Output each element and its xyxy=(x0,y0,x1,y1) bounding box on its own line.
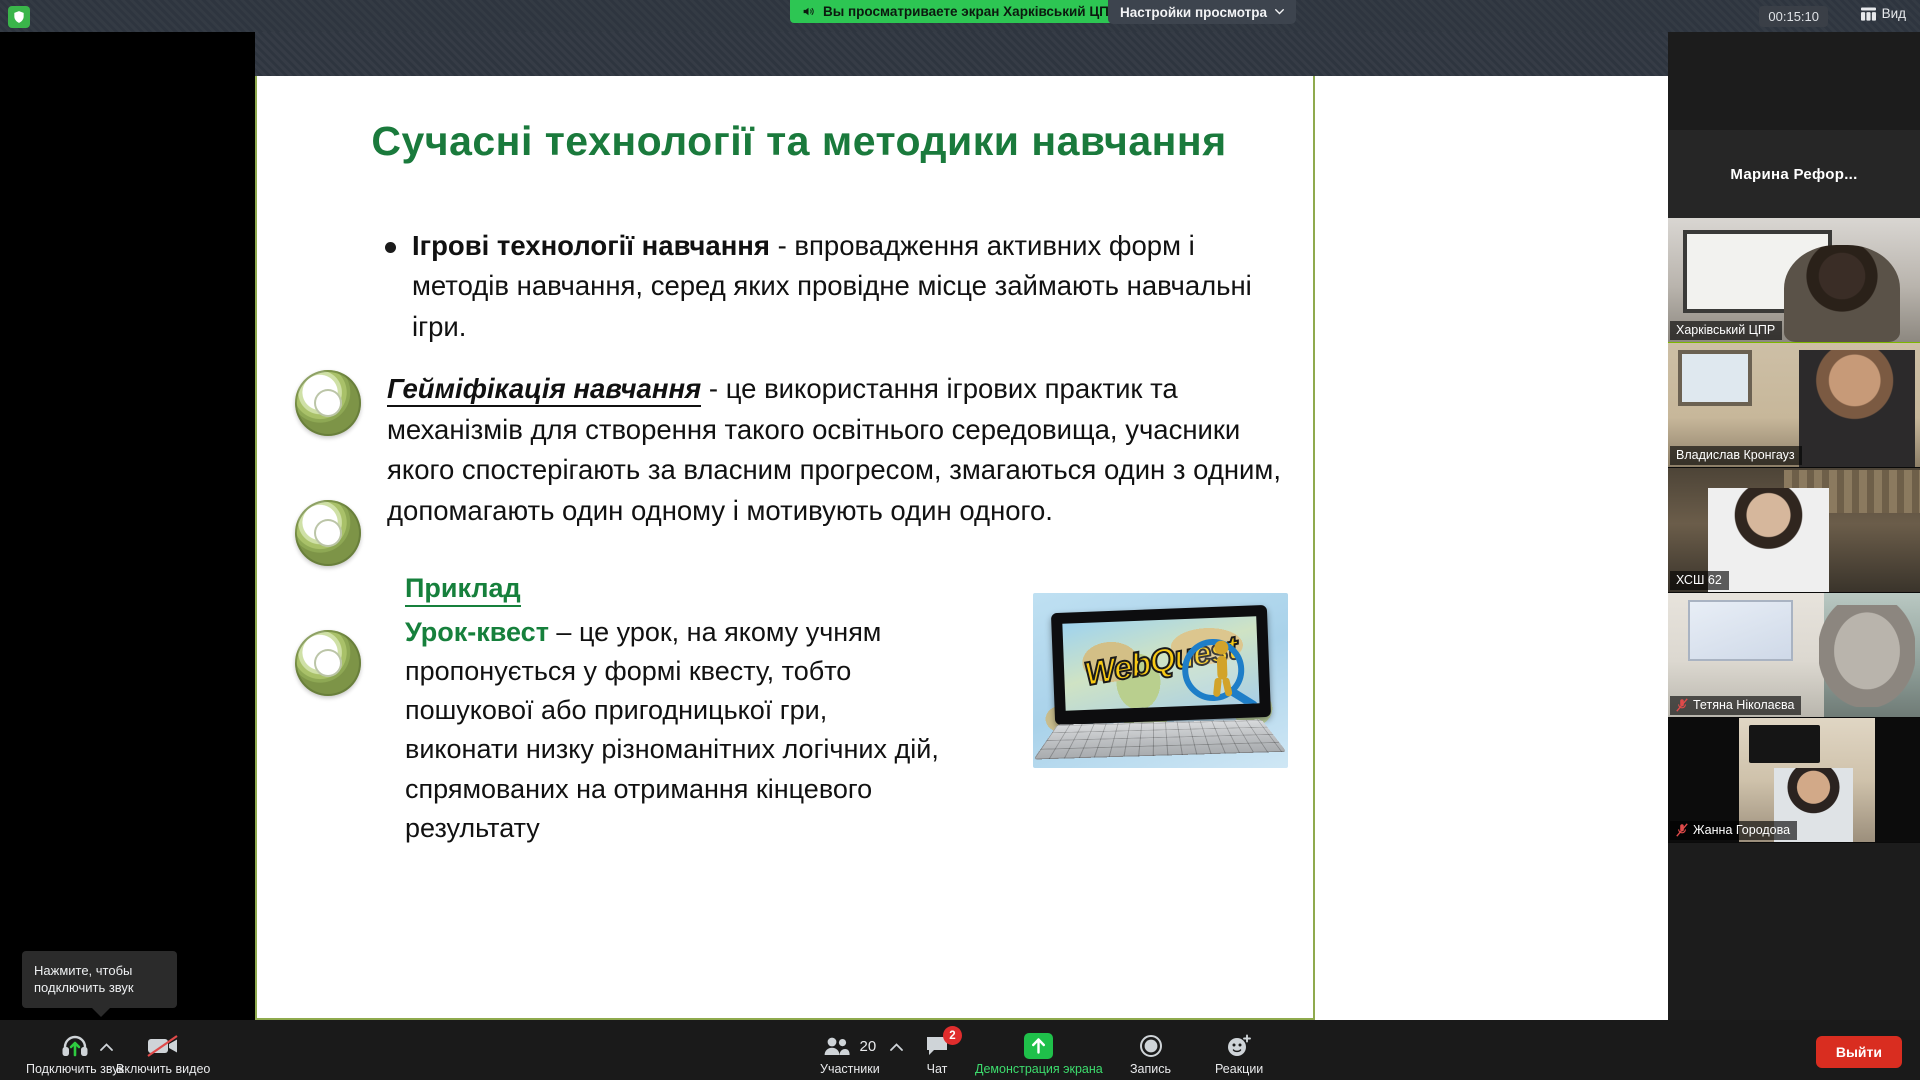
slide-example-term: Урок-квест xyxy=(405,617,549,647)
participant-name: ХСШ 62 xyxy=(1676,573,1722,587)
view-settings-label: Настройки просмотра xyxy=(1120,5,1267,20)
top-bar: Вы просматриваете экран Харківський ЦПР … xyxy=(0,0,1920,32)
zoom-meeting-window: Вы просматриваете экран Харківський ЦПР … xyxy=(0,0,1920,1080)
participant-nameplate: Харківський ЦПР xyxy=(1670,321,1782,340)
screen-share-notice-text: Вы просматриваете экран Харківський ЦПР xyxy=(823,4,1118,19)
meeting-toolbar: Подключить звук Включить видео xyxy=(0,1020,1920,1080)
shield-icon[interactable] xyxy=(8,6,30,28)
chat-unread-badge: 2 xyxy=(943,1026,962,1045)
record-label: Запись xyxy=(1130,1062,1171,1076)
chevron-down-icon xyxy=(1275,9,1284,15)
slide-bullet-item: Ігрові технології навчання - впровадженн… xyxy=(385,226,1297,347)
emoji-plus-icon xyxy=(1226,1033,1252,1059)
slide-top-dark-strip xyxy=(255,32,1668,76)
decorative-ring-icon xyxy=(295,630,361,696)
participant-tile[interactable]: Тетяна Ніколаєва xyxy=(1668,593,1920,718)
chat-bubble-icon: 2 xyxy=(925,1033,949,1059)
join-audio-label: Подключить звук xyxy=(26,1062,124,1076)
screen-share-notice: Вы просматриваете экран Харківський ЦПР xyxy=(790,0,1131,23)
slide-example-text: Урок-квест – це урок, на якому учням про… xyxy=(405,613,945,848)
start-video-button[interactable]: Включить видео xyxy=(116,1033,210,1076)
chat-label: Чат xyxy=(927,1062,948,1076)
grid-view-icon xyxy=(1861,7,1876,21)
participant-nameplate: Владислав Кронгауз xyxy=(1670,446,1802,465)
chat-button[interactable]: 2 Чат xyxy=(925,1033,949,1076)
decorative-ring-icon xyxy=(295,370,361,436)
headset-icon xyxy=(61,1033,89,1059)
participant-name: Тетяна Ніколаєва xyxy=(1693,698,1794,712)
shared-screen-area[interactable]: Сучасні технології та методики навчання … xyxy=(255,32,1668,1020)
chevron-up-icon xyxy=(890,1043,903,1051)
share-screen-icon xyxy=(1024,1033,1053,1059)
participant-tile[interactable]: Жанна Городова xyxy=(1668,718,1920,843)
record-button[interactable]: Запись xyxy=(1130,1033,1171,1076)
mic-off-icon xyxy=(1676,698,1688,712)
people-icon: 20 xyxy=(824,1033,877,1059)
join-audio-tooltip: Нажмите, чтобы подключить звук xyxy=(22,951,177,1008)
participants-count: 20 xyxy=(860,1038,877,1055)
meeting-timer: 00:15:10 xyxy=(1759,6,1828,27)
audio-options-caret[interactable] xyxy=(100,1042,113,1054)
speaker-icon xyxy=(801,5,816,18)
chevron-up-icon xyxy=(100,1043,113,1051)
share-screen-label: Демонстрация экрана xyxy=(975,1062,1103,1076)
start-video-label: Включить видео xyxy=(116,1062,210,1076)
participant-name: Харківський ЦПР xyxy=(1676,323,1775,337)
participants-filmstrip: Марина Рефор... Марина Реформат Харківсь… xyxy=(1668,32,1920,1020)
reactions-label: Реакции xyxy=(1215,1062,1263,1076)
participant-tile[interactable]: Марина Реформат Харківський ЦПР xyxy=(1668,218,1920,343)
figure-icon xyxy=(1209,640,1233,697)
view-layout-label: Вид xyxy=(1882,6,1906,21)
reactions-button[interactable]: Реакции xyxy=(1215,1033,1263,1076)
tooltip-line-1: Нажмите, чтобы xyxy=(34,962,165,980)
foreground-object xyxy=(1819,605,1915,707)
leave-meeting-button[interactable]: Выйти xyxy=(1816,1036,1902,1068)
slide-example-block: Приклад Урок-квест – це урок, на якому у… xyxy=(385,573,945,848)
active-speaker-header: Марина Рефор... xyxy=(1668,130,1920,218)
participant-tile[interactable]: Владислав Кронгауз xyxy=(1668,343,1920,468)
participants-label: Участники xyxy=(820,1062,880,1076)
participant-name: Владислав Кронгауз xyxy=(1676,448,1795,462)
decorative-ring-icon xyxy=(295,500,361,566)
slide-title: Сучасні технології та методики навчання xyxy=(299,118,1299,165)
participant-tile[interactable]: ХСШ 62 xyxy=(1668,468,1920,593)
slide-bullet-term: Ігрові технології навчання xyxy=(412,230,770,261)
presentation-slide: Сучасні технології та методики навчання … xyxy=(255,32,1668,1020)
slide-content-card: Сучасні технології та методики навчання … xyxy=(255,76,1315,1020)
participant-nameplate: Жанна Городова xyxy=(1670,821,1797,840)
share-screen-button[interactable]: Демонстрация экрана xyxy=(975,1033,1103,1076)
mic-off-icon xyxy=(1676,823,1688,837)
view-layout-button[interactable]: Вид xyxy=(1861,6,1906,21)
slide-bullet-text: Ігрові технології навчання - впровадженн… xyxy=(412,226,1297,347)
laptop-screen: WebQuest xyxy=(1062,616,1259,710)
slide-paragraph-term: Гейміфікація навчання xyxy=(387,373,701,407)
slide-paragraph-gamification: Гейміфікація навчання - це використання … xyxy=(385,369,1297,531)
webquest-illustration: WebQuest xyxy=(1033,593,1288,768)
video-off-icon xyxy=(146,1033,180,1059)
participant-nameplate: ХСШ 62 xyxy=(1670,571,1729,590)
slide-example-rest: – це урок, на якому учням пропонується у… xyxy=(405,617,939,843)
slide-example-heading: Приклад xyxy=(405,573,521,607)
participants-button[interactable]: 20 Участники xyxy=(820,1033,880,1076)
laptop-graphic: WebQuest xyxy=(1051,605,1271,725)
participant-name: Жанна Городова xyxy=(1693,823,1790,837)
record-circle-icon xyxy=(1139,1033,1163,1059)
participants-options-caret[interactable] xyxy=(890,1042,903,1054)
view-settings-button[interactable]: Настройки просмотра xyxy=(1108,0,1296,24)
participant-nameplate: Тетяна Ніколаєва xyxy=(1670,696,1801,715)
bullet-dot-icon xyxy=(385,242,396,253)
join-audio-button[interactable]: Подключить звук xyxy=(26,1033,124,1076)
tooltip-line-2: подключить звук xyxy=(34,979,165,997)
